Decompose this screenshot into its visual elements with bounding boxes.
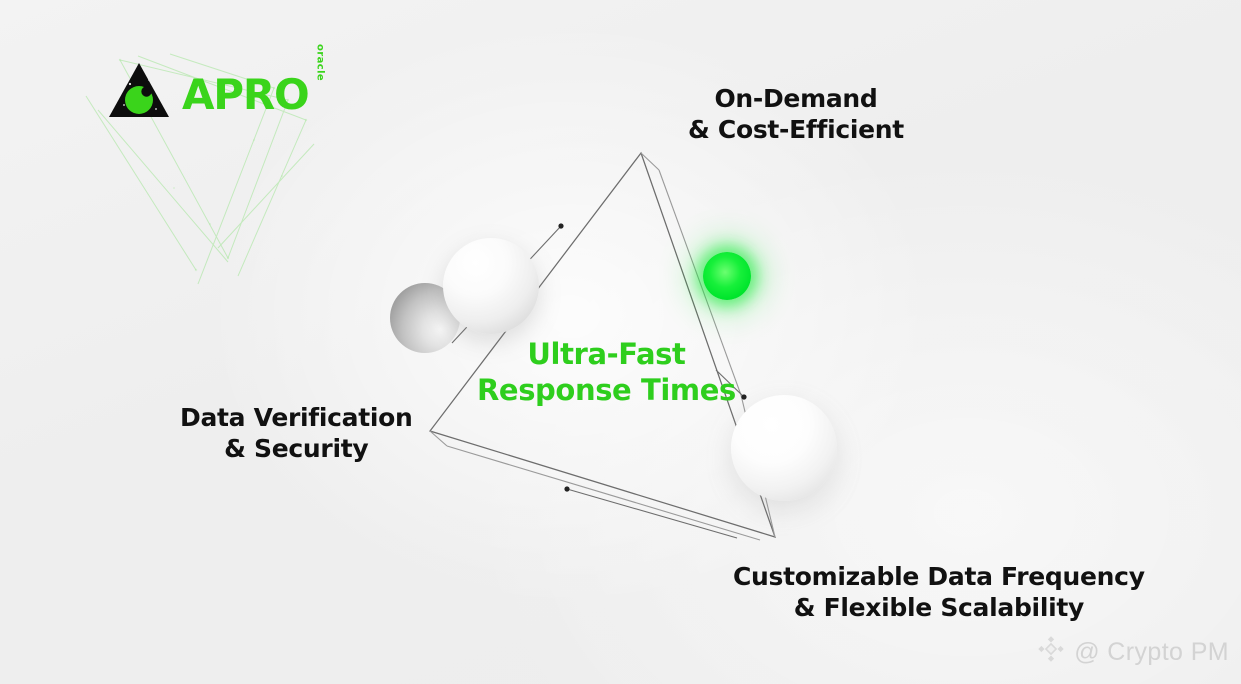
sphere-white-large bbox=[731, 395, 837, 501]
center-label-ultra-fast-response-times: Ultra-Fast Response Times bbox=[477, 336, 736, 409]
apro-logo[interactable]: APRO oracle bbox=[108, 62, 332, 118]
node-label-line1: Data Verification bbox=[180, 403, 413, 434]
center-label-line1: Ultra-Fast bbox=[477, 336, 736, 372]
brand-name: APRO bbox=[182, 74, 309, 116]
sphere-light-large bbox=[443, 238, 539, 334]
apro-triangle-eye-logo-icon bbox=[108, 62, 170, 118]
node-label-line2: & Security bbox=[180, 434, 413, 465]
node-label-line2: & Flexible Scalability bbox=[733, 593, 1145, 624]
node-label-line1: On-Demand bbox=[688, 84, 904, 115]
node-label-customizable-frequency: Customizable Data Frequency & Flexible S… bbox=[733, 562, 1145, 624]
node-label-on-demand: On-Demand & Cost-Efficient bbox=[688, 84, 904, 146]
sphere-green-glow bbox=[703, 252, 751, 300]
node-label-data-verification: Data Verification & Security bbox=[180, 403, 413, 465]
node-label-line2: & Cost-Efficient bbox=[688, 115, 904, 146]
node-label-line1: Customizable Data Frequency bbox=[733, 562, 1145, 593]
infographic-canvas: APRO oracle bbox=[0, 0, 1241, 684]
brand-tagline: oracle bbox=[315, 44, 326, 84]
binance-diamond-icon bbox=[1037, 635, 1065, 670]
watermark-handle: @ Crypto PM bbox=[1074, 638, 1229, 667]
watermark: @ Crypto PM bbox=[1037, 635, 1229, 670]
center-label-line2: Response Times bbox=[477, 372, 736, 408]
